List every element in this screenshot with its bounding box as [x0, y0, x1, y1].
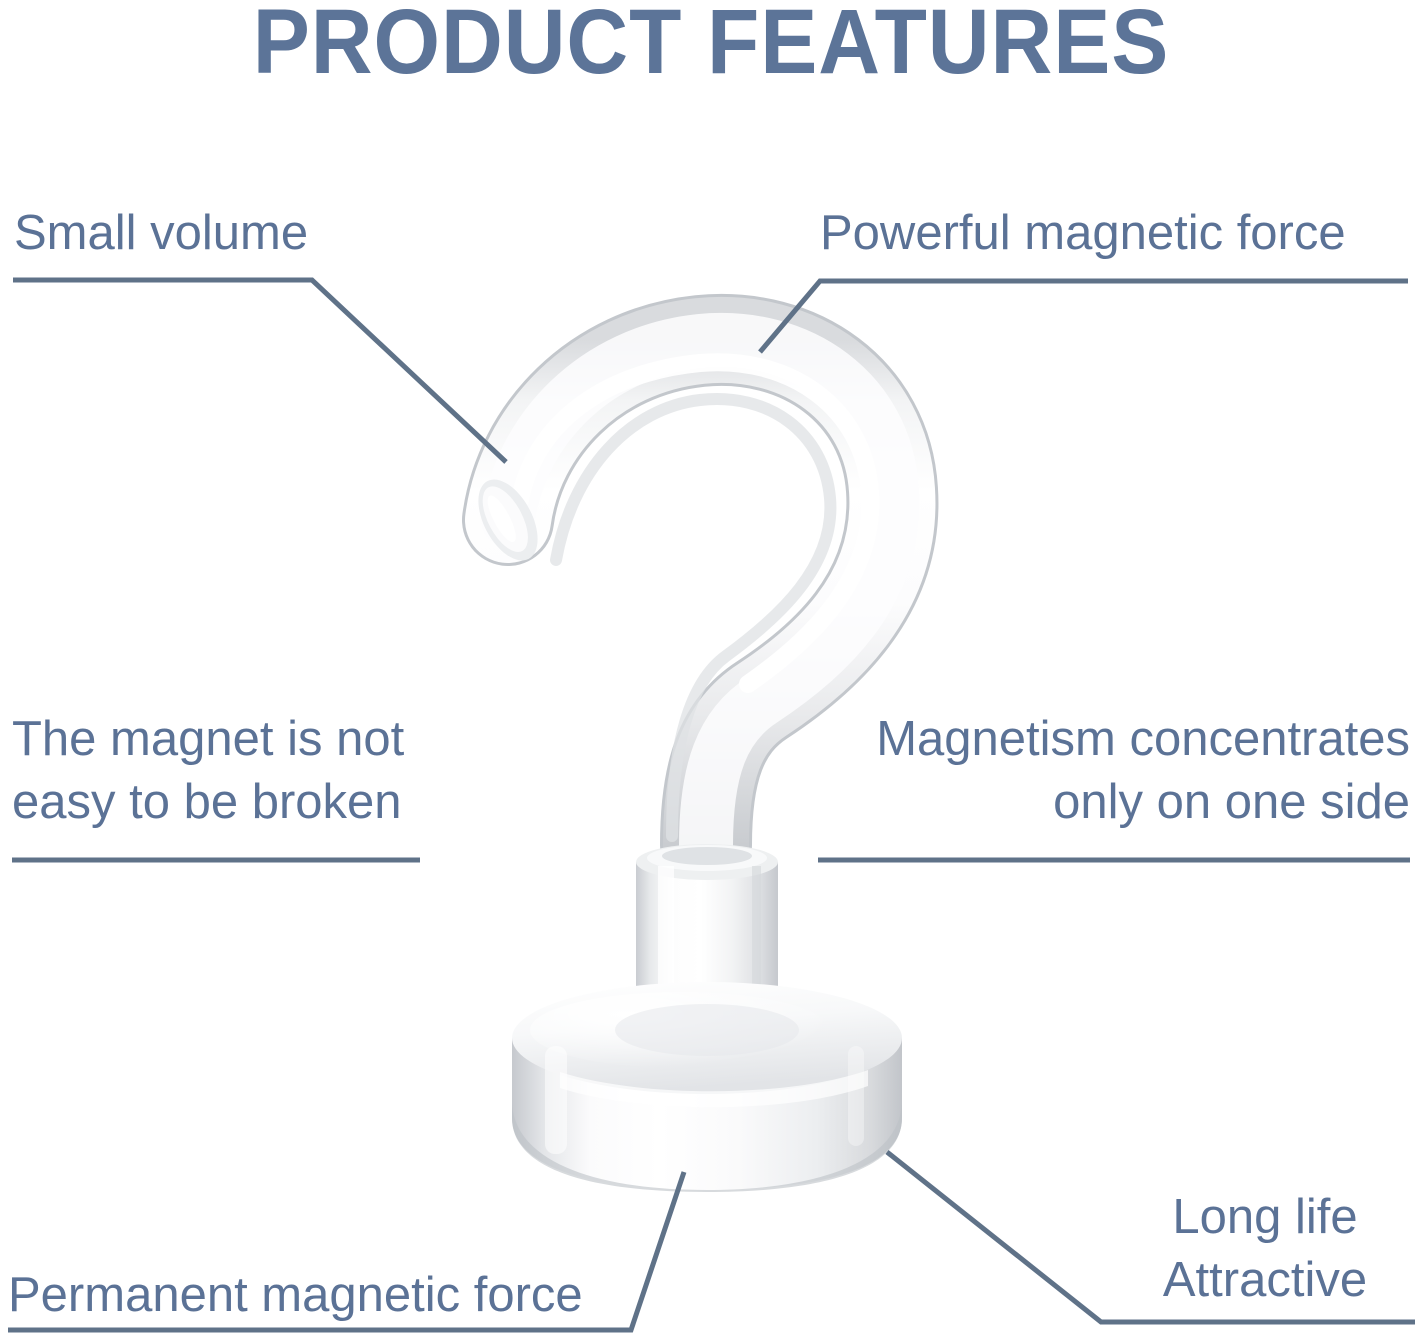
leader-powerful-magnetic-force — [760, 281, 1408, 352]
hook-tip — [466, 470, 550, 570]
page-title: PRODUCT FEATURES — [50, 0, 1372, 88]
callout-long-life-attractive: Long life Attractive — [1120, 1186, 1410, 1312]
callout-magnetism-one-side: Magnetism concentrates only on one side — [810, 708, 1410, 834]
leader-small-volume — [13, 280, 506, 462]
callout-leader-lines — [0, 0, 1422, 1337]
callout-magnet-not-easy-broken: The magnet is not easy to be broken — [12, 708, 404, 834]
magnet-base — [512, 982, 902, 1192]
callout-permanent-magnetic-force: Permanent magnetic force — [8, 1264, 583, 1327]
hook-neck — [636, 844, 778, 1012]
product-image-magnetic-hook — [0, 0, 1422, 1337]
product-features-infographic: PRODUCT FEATURES — [0, 0, 1422, 1337]
callout-powerful-magnetic-force: Powerful magnetic force — [820, 202, 1346, 265]
callout-small-volume: Small volume — [14, 202, 308, 265]
